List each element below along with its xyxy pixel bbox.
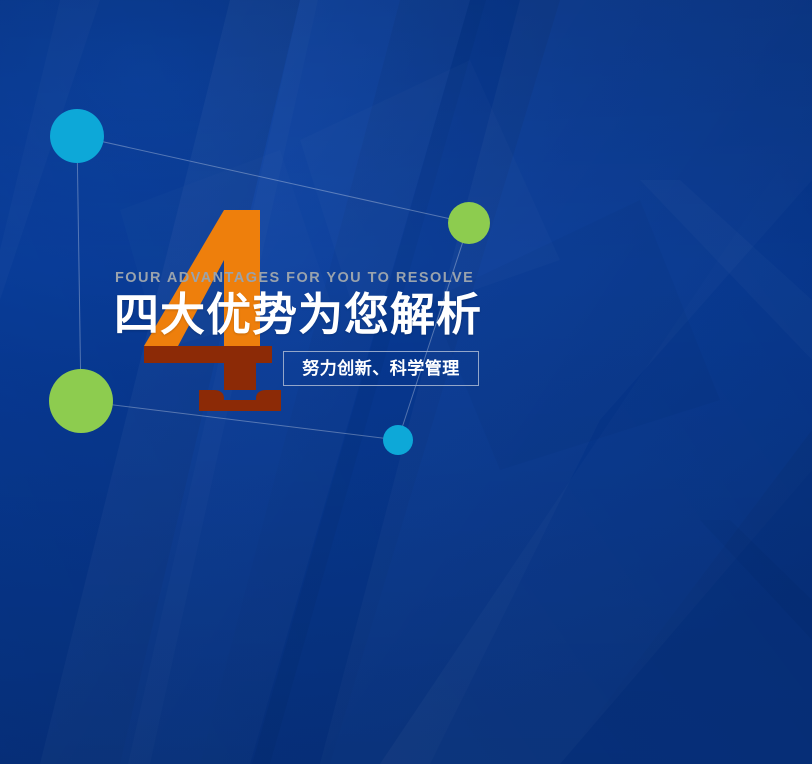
tagline-text: 努力创新、科学管理 [302,360,460,377]
node-cyan-small [383,425,413,455]
node-green-small [448,202,490,244]
headline-block: FOUR ADVANTAGES FOR YOU TO RESOLVE 四大优势为… [114,271,674,337]
page-title: 四大优势为您解析 [114,292,674,338]
banner-canvas: FOUR ADVANTAGES FOR YOU TO RESOLVE 四大优势为… [0,0,812,764]
node-cyan-large [50,109,104,163]
tagline-badge: 努力创新、科学管理 [283,351,479,386]
node-green-large [49,369,113,433]
edge-cyan-large-to-green-large [77,136,81,401]
eyebrow-text: FOUR ADVANTAGES FOR YOU TO RESOLVE [115,271,674,286]
numeral-four-lower [144,346,281,411]
